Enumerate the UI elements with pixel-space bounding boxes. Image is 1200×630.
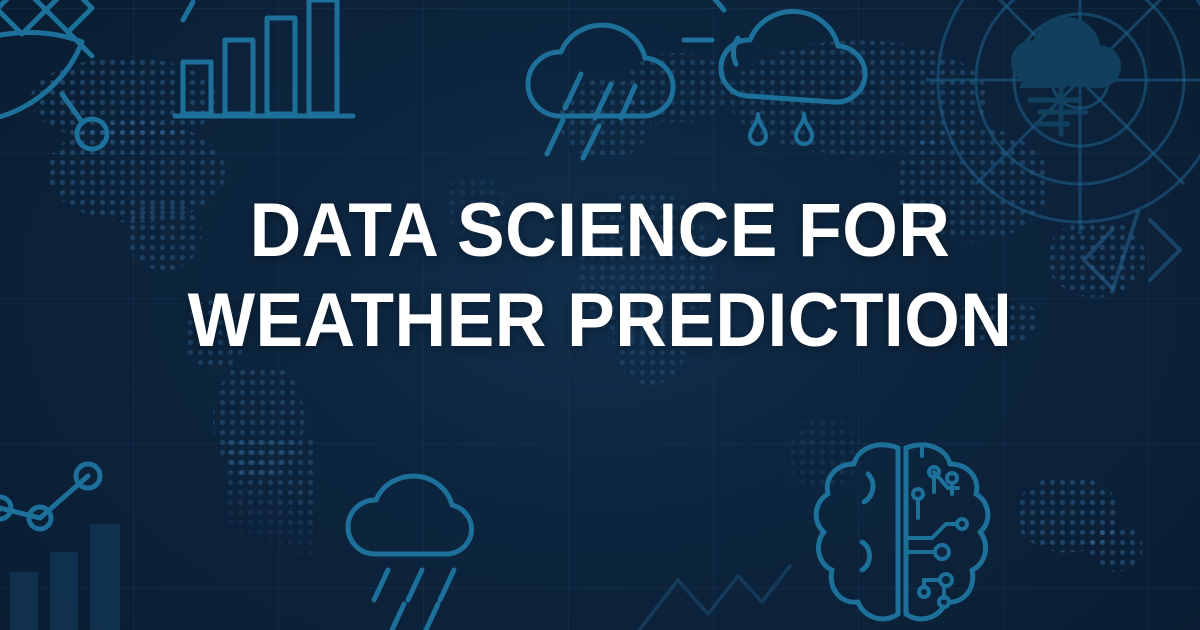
- page-title: DATA SCIENCE FOR WEATHER PREDICTION: [0, 186, 1200, 366]
- ai-brain-icon: [806, 430, 1006, 630]
- fog-cloud-icon: [1006, 8, 1136, 138]
- bar-chart-icon: [175, 0, 355, 125]
- rain-cloud-icon: [338, 458, 498, 628]
- title-line-2: WEATHER PREDICTION: [36, 276, 1164, 366]
- banner: DATA SCIENCE FOR WEATHER PREDICTION: [0, 0, 1200, 630]
- title-line-1: DATA SCIENCE FOR: [36, 186, 1164, 276]
- sun-behind-cloud-icon: [686, 0, 876, 164]
- line-chart-icon: [0, 460, 150, 580]
- satellite-icon: [0, 0, 202, 204]
- rain-cloud-icon: [515, 8, 695, 168]
